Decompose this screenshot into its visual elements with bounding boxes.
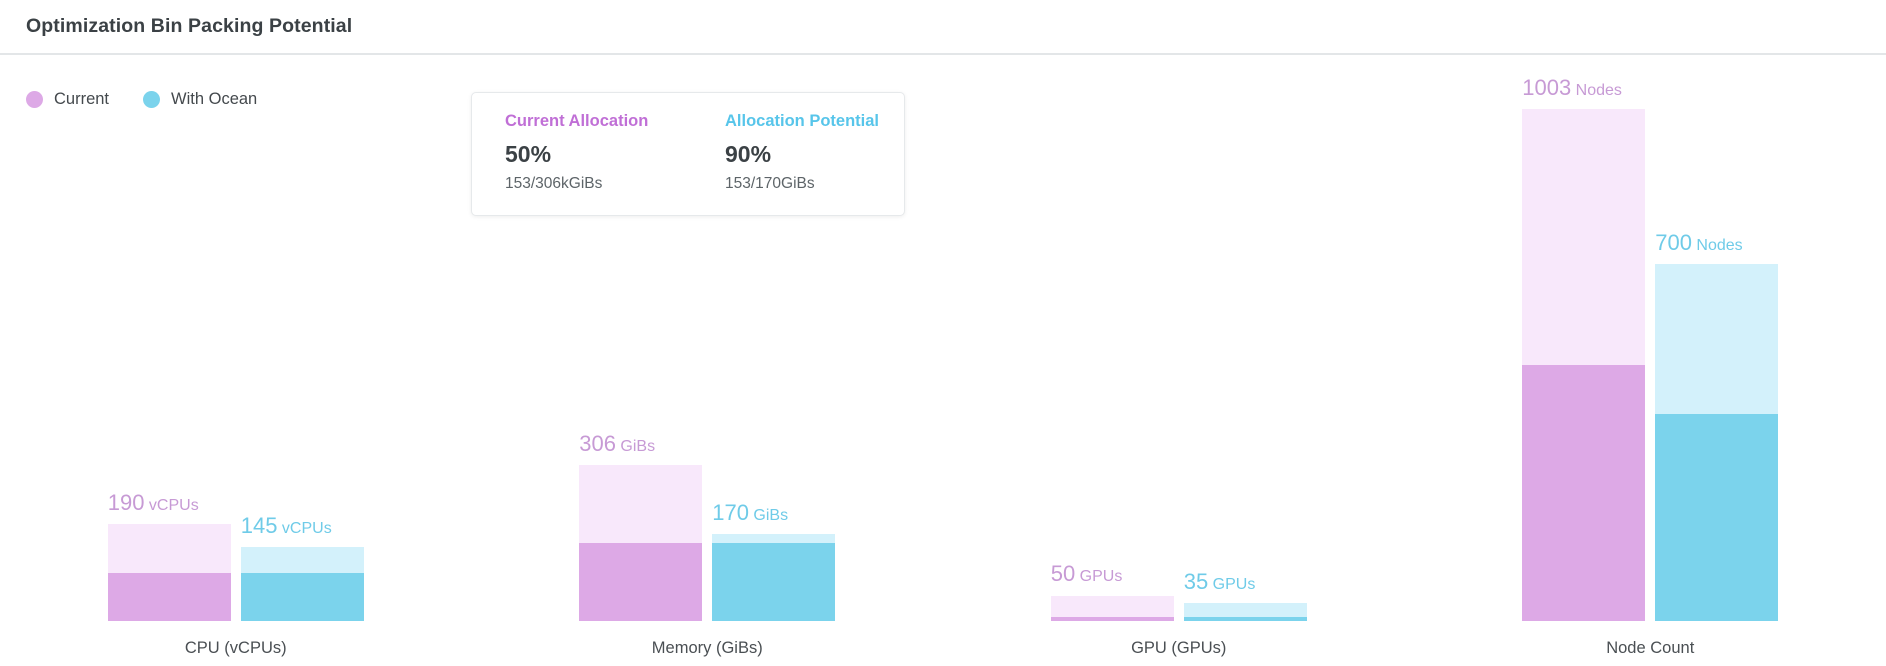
bar-group-bars: 50 GPUs35 GPUs [943,65,1415,621]
bar-value-number: 306 [579,431,616,456]
bar-segment-unused [712,534,835,543]
bar-current[interactable]: 50 GPUs [1051,65,1174,621]
bar-value-unit: GiBs [749,507,788,524]
bar-segment-used [241,573,364,621]
bar-group: 190 vCPUs145 vCPUsCPU (vCPUs) [0,55,472,666]
bar-segment-unused [1184,603,1307,617]
bar-with-ocean[interactable]: 700 Nodes [1655,65,1778,621]
bar-current[interactable]: 1003 Nodes [1522,65,1645,621]
bar-value-unit: vCPUs [144,497,198,514]
bar-column[interactable] [712,534,835,621]
bar-value-number: 170 [712,500,749,525]
bar-group: 50 GPUs35 GPUsGPU (GPUs) [943,55,1415,666]
bar-group: 306 GiBs170 GiBsMemory (GiBs) [472,55,944,666]
bar-segment-used [712,543,835,621]
bar-value-number: 190 [108,490,145,515]
bar-value-number: 145 [241,513,278,538]
bar-segment-used [1522,365,1645,621]
bar-column[interactable] [108,524,231,621]
bar-value-unit: GPUs [1208,576,1255,593]
bar-value-unit: GiBs [616,438,655,455]
bar-value-unit: vCPUs [277,520,331,537]
x-axis-category-label: Memory (GiBs) [472,639,944,658]
bar-segment-unused [1522,109,1645,365]
bar-group-bars: 190 vCPUs145 vCPUs [0,65,472,621]
bar-column[interactable] [1184,603,1307,621]
bar-column[interactable] [1522,109,1645,621]
bar-current[interactable]: 190 vCPUs [108,65,231,621]
bar-segment-unused [1655,264,1778,414]
page-title: Optimization Bin Packing Potential [26,15,352,38]
x-axis-category-label: GPU (GPUs) [943,639,1415,658]
bar-segment-used [108,573,231,621]
bar-segment-unused [108,524,231,572]
bar-with-ocean[interactable]: 35 GPUs [1184,65,1307,621]
bar-value-number: 35 [1184,569,1208,594]
bar-segment-used [1051,617,1174,621]
bar-column[interactable] [1051,595,1174,621]
bar-segment-used [1184,617,1307,621]
bar-segment-used [1655,414,1778,621]
bar-value-label: 306 GiBs [579,433,702,455]
bar-segment-unused [579,465,702,543]
bar-value-label: 190 vCPUs [108,492,231,514]
bar-with-ocean[interactable]: 145 vCPUs [241,65,364,621]
bar-segment-unused [1051,596,1174,617]
bar-value-unit: Nodes [1571,82,1622,99]
bar-column[interactable] [579,465,702,621]
bar-value-label: 1003 Nodes [1522,77,1645,99]
bar-value-number: 1003 [1522,75,1571,100]
bar-group: 1003 Nodes700 NodesNode Count [1415,55,1886,666]
bar-value-number: 50 [1051,561,1075,586]
bar-value-number: 700 [1655,230,1692,255]
bar-value-unit: Nodes [1692,237,1743,254]
x-axis-category-label: Node Count [1415,639,1886,658]
bar-segment-used [579,543,702,621]
bar-segment-unused [241,547,364,573]
bar-value-label: 145 vCPUs [241,515,364,537]
bar-value-label: 700 Nodes [1655,232,1778,254]
bar-value-unit: GPUs [1075,568,1122,585]
bar-value-label: 50 GPUs [1051,563,1174,585]
bar-chart-plot: 190 vCPUs145 vCPUsCPU (vCPUs)306 GiBs170… [0,55,1886,666]
bar-column[interactable] [1655,264,1778,621]
bar-value-label: 35 GPUs [1184,571,1307,593]
bin-packing-panel: Optimization Bin Packing Potential Curre… [0,0,1886,666]
bar-value-label: 170 GiBs [712,502,835,524]
bar-with-ocean[interactable]: 170 GiBs [712,65,835,621]
bar-group-bars: 306 GiBs170 GiBs [472,65,944,621]
bar-column[interactable] [241,547,364,621]
bar-current[interactable]: 306 GiBs [579,65,702,621]
bar-group-bars: 1003 Nodes700 Nodes [1415,65,1886,621]
panel-header: Optimization Bin Packing Potential [0,0,1886,55]
x-axis-category-label: CPU (vCPUs) [0,639,472,658]
